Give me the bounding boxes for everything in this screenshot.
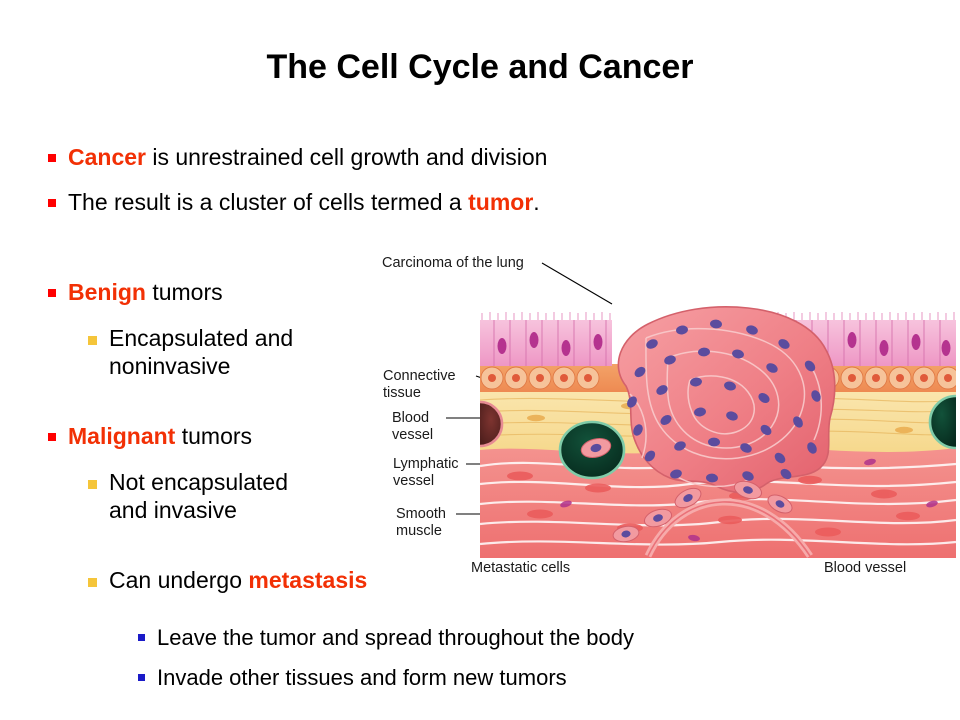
bullet-not-encapsulated-text: Not encapsulated and invasive [109, 468, 288, 524]
tissue-svg [480, 298, 956, 558]
label-lymphatic-vessel: Lymphatic vessel [393, 456, 459, 490]
highlight-malignant: Malignant [68, 423, 175, 449]
bullet-cancer-rest: is unrestrained cell growth and division [146, 144, 547, 170]
bullet-tumor-post: . [533, 189, 539, 215]
label-carcinoma-of-the-lung: Carcinoma of the lung [382, 255, 524, 272]
bullet-metastasis-pre: Can undergo [109, 567, 248, 593]
bullet-tumor-text: The result is a cluster of cells termed … [68, 188, 540, 216]
bullet-encapsulated: Encapsulated and noninvasive [88, 324, 388, 380]
bullet-benign-text: Benign tumors [68, 278, 223, 306]
page-title: The Cell Cycle and Cancer [0, 48, 960, 87]
bullet-marker-level2 [88, 578, 97, 587]
bullet-cancer: Cancer is unrestrained cell growth and d… [48, 143, 568, 171]
highlight-tumor: tumor [468, 189, 533, 215]
bullet-not-encapsulated: Not encapsulated and invasive [88, 468, 388, 524]
highlight-metastasis: metastasis [248, 567, 367, 593]
bullet-marker-level1 [48, 289, 56, 297]
label-metastatic-cells: Metastatic cells [471, 560, 570, 577]
carcinoma-illustration: Carcinoma of the lung Connective tissue … [366, 238, 956, 586]
bullet-benign: Benign tumors [48, 278, 378, 306]
bullet-malignant-text: Malignant tumors [68, 422, 252, 450]
bullet-benign-rest: tumors [146, 279, 223, 305]
label-blood-vessel-2: Blood vessel [824, 560, 906, 577]
bullet-marker-level3 [138, 674, 145, 681]
bullet-marker-level1 [48, 199, 56, 207]
bullet-leave-tumor: Leave the tumor and spread throughout th… [138, 624, 898, 651]
tissue-cross-section [480, 298, 956, 558]
bullet-invade-tissues-text: Invade other tissues and form new tumors [157, 664, 567, 691]
highlight-benign: Benign [68, 279, 146, 305]
label-blood-vessel: Blood vessel [392, 410, 433, 444]
carcinoma-tumor-mass [618, 307, 834, 493]
bullet-malignant-rest: tumors [175, 423, 252, 449]
bullet-malignant: Malignant tumors [48, 422, 378, 450]
highlight-cancer: Cancer [68, 144, 146, 170]
bullet-cancer-text: Cancer is unrestrained cell growth and d… [68, 143, 547, 171]
bullet-leave-tumor-text: Leave the tumor and spread throughout th… [157, 624, 634, 651]
bullet-marker-level3 [138, 634, 145, 641]
bullet-invade-tissues: Invade other tissues and form new tumors [138, 664, 898, 691]
bullet-tumor-pre: The result is a cluster of cells termed … [68, 189, 468, 215]
bullet-encapsulated-text: Encapsulated and noninvasive [109, 324, 293, 380]
bullet-marker-level1 [48, 154, 56, 162]
bullet-marker-level1 [48, 433, 56, 441]
label-smooth-muscle: Smooth muscle [396, 506, 446, 540]
bullet-tumor: The result is a cluster of cells termed … [48, 188, 568, 216]
bullet-marker-level2 [88, 480, 97, 489]
bullet-marker-level2 [88, 336, 97, 345]
label-connective-tissue: Connective tissue [383, 368, 456, 402]
bullet-metastasis-text: Can undergo metastasis [109, 566, 367, 594]
lymphatic-vessel-left [560, 422, 624, 478]
